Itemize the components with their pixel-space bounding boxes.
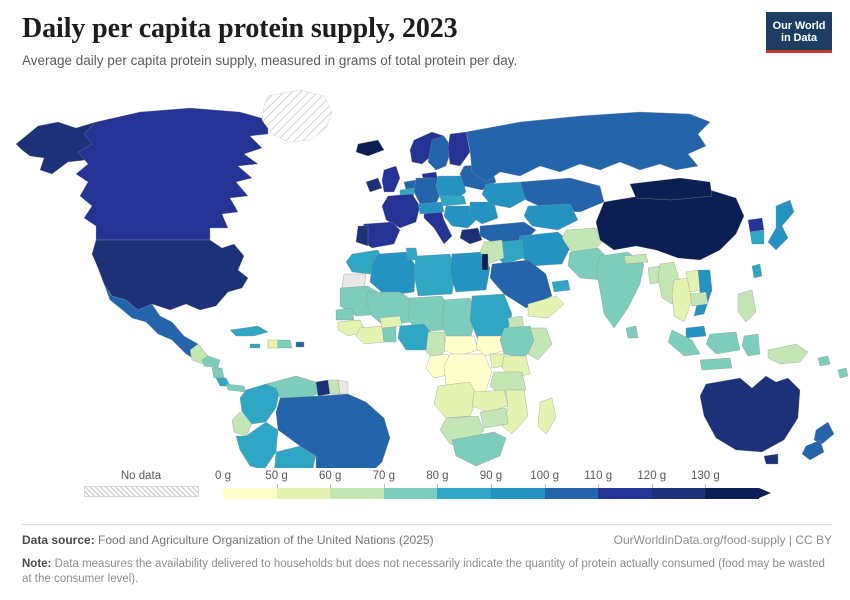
legend-bin-5[interactable] [491, 488, 545, 499]
chart-header: Daily per capita protein supply, 2023 Av… [22, 12, 828, 70]
country-new-zealand-south[interactable] [802, 440, 824, 460]
country-australia[interactable] [700, 376, 800, 452]
owid-logo[interactable]: Our World in Data [766, 12, 832, 52]
country-nepal[interactable] [624, 254, 648, 264]
country-central-african-rep[interactable] [444, 336, 478, 356]
country-south-korea[interactable] [750, 230, 764, 244]
owid-chart-page: Daily per capita protein supply, 2023 Av… [0, 0, 850, 600]
legend-tick-label-7: 110 g [584, 470, 612, 483]
country-india[interactable] [596, 252, 644, 328]
chart-footer: Data source: Food and Agriculture Organi… [22, 524, 832, 587]
legend-bin-0[interactable] [223, 488, 277, 499]
country-ireland[interactable] [366, 178, 382, 192]
country-uae[interactable] [552, 280, 570, 292]
country-taiwan[interactable] [752, 264, 762, 278]
country-angola[interactable] [434, 382, 478, 418]
country-malaysia[interactable] [686, 326, 706, 338]
legend-tick-label-8: 120 g [637, 470, 666, 483]
legend-bin-7[interactable] [598, 488, 652, 499]
legend-tick-label-6: 100 g [530, 470, 559, 483]
country-north-korea[interactable] [748, 218, 764, 232]
map-svg [0, 78, 850, 468]
owid-logo-accent-bar [766, 50, 832, 53]
data-source: Data source: Food and Agriculture Organi… [22, 532, 434, 548]
world-choropleth-map[interactable] [0, 78, 850, 468]
legend-bin-9[interactable] [705, 488, 759, 499]
country-ivory-coast-liberia[interactable] [356, 326, 384, 344]
country-indonesia-sulawesi[interactable] [742, 334, 760, 356]
country-czechia-slovakia[interactable] [440, 196, 466, 206]
country-portugal[interactable] [356, 226, 368, 246]
legend-bin-4[interactable] [437, 488, 491, 499]
legend-no-data-label: No data [81, 470, 201, 483]
region-north-america [16, 90, 332, 392]
country-switzerland-austria[interactable] [418, 202, 444, 214]
country-indonesia-java[interactable] [700, 358, 732, 370]
country-indonesia-borneo[interactable] [706, 332, 740, 354]
country-mongolia[interactable] [630, 178, 712, 200]
legend-bin-8[interactable] [652, 488, 706, 499]
page-subtitle: Average daily per capita protein supply,… [22, 52, 828, 70]
legend-open-end-arrow [759, 488, 771, 498]
country-tasmania[interactable] [764, 454, 778, 464]
country-iceland[interactable] [356, 140, 384, 156]
legend-bin-6[interactable] [545, 488, 599, 499]
country-japan[interactable] [768, 200, 794, 250]
country-sri-lanka[interactable] [626, 326, 638, 338]
footer-divider [22, 524, 832, 525]
country-haiti[interactable] [268, 340, 278, 348]
legend-tick-row: 0 g50 g60 g70 g80 g90 g100 g110 g120 g13… [223, 470, 771, 484]
country-uzbekistan-turkmenistan[interactable] [524, 204, 578, 230]
legend-scale[interactable]: 0 g50 g60 g70 g80 g90 g100 g110 g120 g13… [223, 470, 771, 484]
country-philippines[interactable] [738, 290, 756, 322]
legend-color-bar[interactable] [223, 488, 771, 499]
country-dominican-republic[interactable] [278, 340, 292, 348]
legend-tick-label-4: 80 g [426, 470, 448, 483]
country-ghana[interactable] [382, 326, 396, 342]
country-solomon-islands[interactable] [818, 356, 830, 366]
country-finland[interactable] [448, 132, 470, 166]
country-jamaica[interactable] [250, 344, 260, 348]
legend-no-data-swatch [84, 486, 199, 497]
country-burkina-faso[interactable] [380, 316, 402, 328]
country-new-zealand[interactable] [814, 422, 834, 444]
country-guyana[interactable] [316, 380, 330, 396]
data-source-prefix: Data source: [22, 533, 95, 547]
country-senegal[interactable] [336, 308, 354, 320]
country-canada[interactable] [76, 108, 268, 240]
legend-tick-label-5: 90 g [480, 470, 502, 483]
chart-note-text: Data measures the availability delivered… [22, 558, 825, 585]
region-south-america [232, 376, 390, 468]
chart-note: Note: Data measures the availability del… [22, 557, 832, 587]
attribution-link[interactable]: OurWorldinData.org/food-supply | CC BY [614, 532, 832, 548]
data-source-text: Food and Agriculture Organization of the… [98, 533, 434, 547]
owid-logo-line1: Our World [773, 20, 826, 32]
country-madagascar[interactable] [538, 398, 556, 434]
legend-tick-label-1: 50 g [265, 470, 287, 483]
legend-tick-label-0: 0 g [215, 470, 231, 483]
country-cambodia[interactable] [690, 292, 708, 306]
legend-bin-3[interactable] [384, 488, 438, 499]
map-legend[interactable]: No data 0 g50 g60 g70 g80 g90 g100 g110 … [0, 470, 850, 518]
legend-no-data[interactable]: No data [81, 470, 201, 497]
page-title: Daily per capita protein supply, 2023 [22, 12, 828, 46]
legend-tick-label-3: 70 g [373, 470, 395, 483]
country-papua-new-guinea[interactable] [768, 344, 808, 364]
country-fiji[interactable] [838, 368, 848, 378]
country-panama[interactable] [226, 384, 246, 392]
country-puerto-rico[interactable] [296, 342, 304, 347]
country-nicaragua[interactable] [212, 368, 224, 378]
country-greece[interactable] [460, 228, 482, 244]
country-china[interactable] [596, 190, 744, 260]
legend-bin-1[interactable] [277, 488, 331, 499]
chart-note-prefix: Note: [22, 558, 51, 570]
legend-bin-2[interactable] [330, 488, 384, 499]
country-russia[interactable] [466, 112, 710, 182]
legend-tick-label-9: 130 g [691, 470, 720, 483]
country-greenland[interactable] [262, 90, 332, 142]
country-libya[interactable] [414, 254, 456, 296]
country-cuba[interactable] [230, 326, 268, 336]
owid-logo-line2: in Data [781, 32, 817, 44]
country-israel[interactable] [482, 254, 488, 270]
legend-tick-label-2: 60 g [319, 470, 341, 483]
country-united-kingdom[interactable] [382, 166, 400, 192]
